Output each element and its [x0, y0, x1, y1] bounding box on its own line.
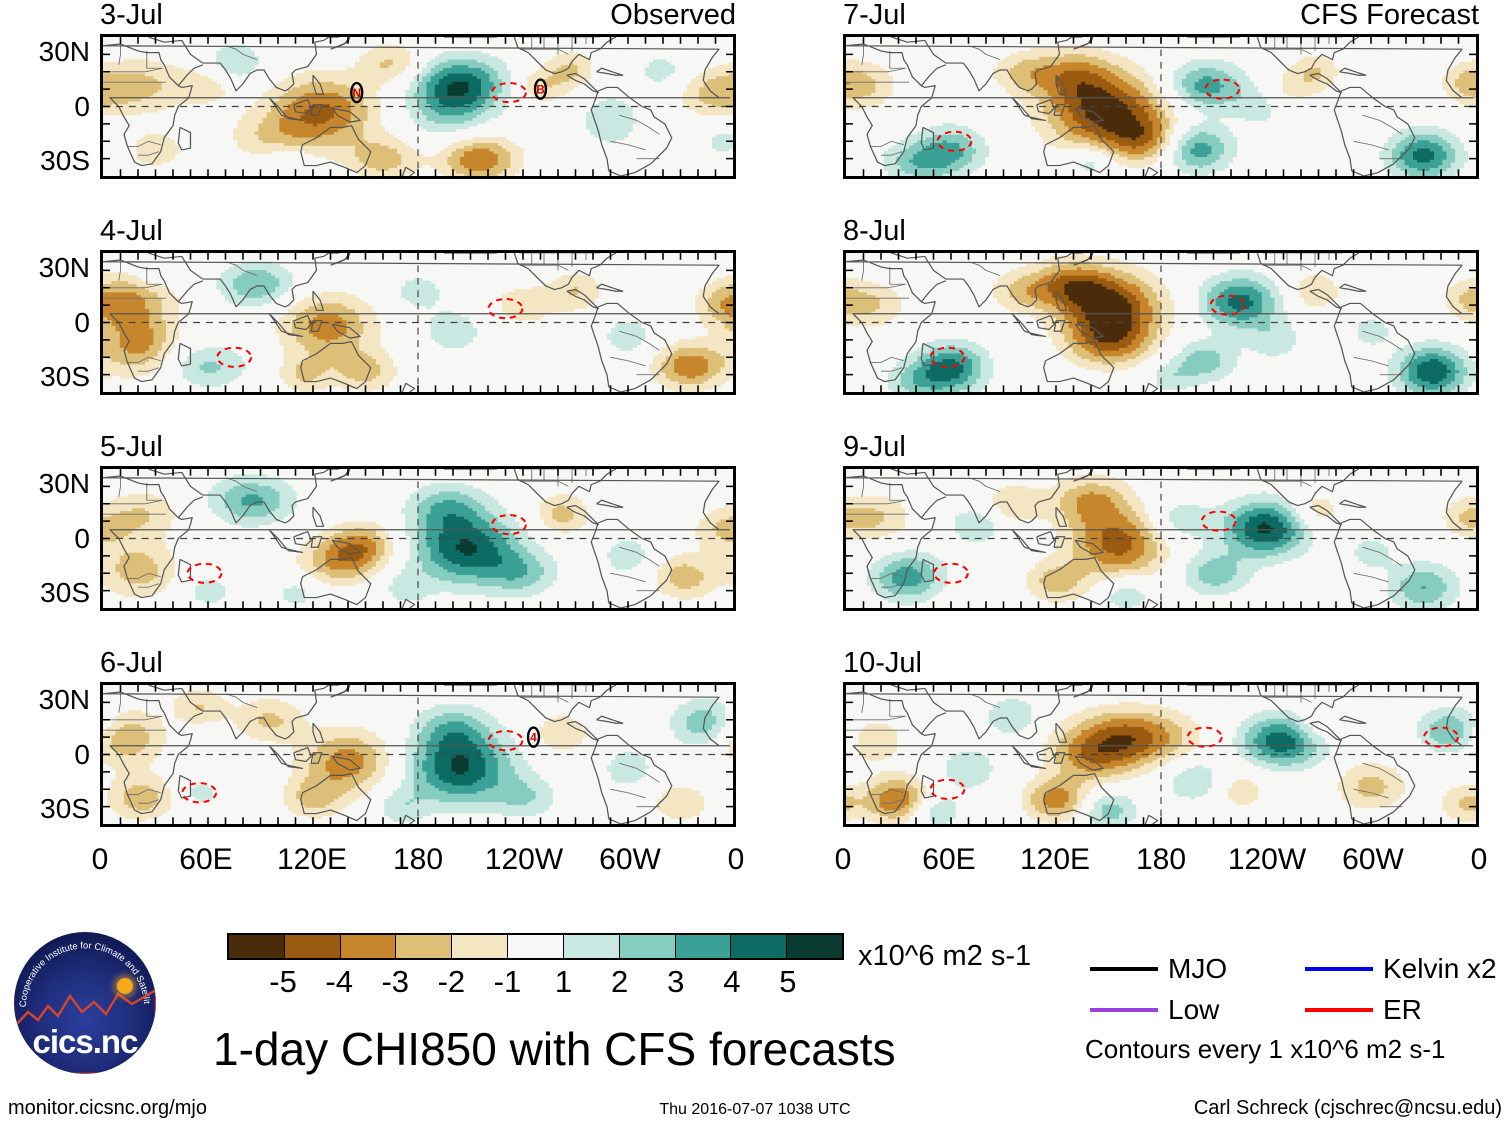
map-panel-7-jul: 7-JulCFS Forecast — [843, 34, 1479, 179]
colorbar-tick-label: 4 — [723, 966, 740, 997]
panel-date-label: 10-Jul — [843, 649, 922, 678]
colorbar-tick-label: -3 — [381, 966, 409, 997]
colorbar — [227, 933, 844, 960]
colorbar-band — [620, 935, 676, 958]
x-axis-tick-label: 0 — [728, 845, 745, 875]
legend-line-low — [1090, 1008, 1158, 1012]
cics-nc-logo: Cooperative Institute for Climate and Sa… — [14, 932, 156, 1074]
map-plot-area[interactable]: 4 — [100, 682, 736, 827]
colorbar-band — [508, 935, 564, 958]
column-header-observed: Observed — [610, 1, 736, 30]
chi850-anomaly-map — [846, 685, 1476, 824]
mjo-marker-label: 4 — [530, 732, 537, 745]
map-plot-area[interactable] — [100, 250, 736, 395]
y-axis-tick-label: 30S — [4, 363, 90, 391]
legend-line-mjo — [1090, 967, 1158, 971]
colorbar-tick-label: -5 — [269, 966, 297, 997]
grid-lines — [103, 37, 733, 176]
colorbar-tick-label: -1 — [494, 966, 522, 997]
map-panel-3-jul: 3-JulObservedNB — [100, 34, 736, 179]
footer-timestamp: Thu 2016-07-07 1038 UTC — [659, 1100, 850, 1120]
x-axis-tick-label: 180 — [1136, 845, 1186, 875]
chi850-anomaly-map: 4 — [103, 685, 733, 824]
chi850-anomaly-map — [846, 37, 1476, 176]
x-axis-tick-label: 120W — [1228, 845, 1306, 875]
chi850-anomaly-map — [103, 469, 733, 608]
legend-label-kelvin-x2: Kelvin x2 — [1383, 955, 1497, 983]
footer-url[interactable]: monitor.cicsnc.org/mjo — [8, 1098, 207, 1118]
panel-date-label: 8-Jul — [843, 217, 906, 246]
panel-date-label: 9-Jul — [843, 433, 906, 462]
legend-line-er — [1305, 1008, 1373, 1012]
y-axis-tick-label: 0 — [4, 741, 90, 769]
y-axis-tick-label: 30N — [4, 470, 90, 498]
chi850-anomaly-map — [103, 253, 733, 392]
x-axis-tick-label: 0 — [92, 845, 109, 875]
figure-title: 1-day CHI850 with CFS forecasts — [213, 1026, 896, 1072]
colorbar-tick-label: 1 — [555, 966, 572, 997]
x-axis-tick-label: 0 — [1471, 845, 1488, 875]
chi850-anomaly-map — [846, 253, 1476, 392]
mjo-marker-label: N — [352, 87, 361, 100]
colorbar-tick-label: 2 — [611, 966, 628, 997]
colorbar-band — [676, 935, 732, 958]
legend-line-kelvin-x2 — [1305, 967, 1373, 971]
map-plot-area[interactable] — [843, 250, 1479, 395]
x-axis-tick-label: 60W — [599, 845, 661, 875]
map-panel-6-jul: 6-Jul4 — [100, 682, 736, 827]
x-axis-tick-label: 0 — [835, 845, 852, 875]
map-panel-10-jul: 10-Jul — [843, 682, 1479, 827]
y-axis-tick-label: 0 — [4, 309, 90, 337]
map-plot-area[interactable] — [100, 466, 736, 611]
y-axis-tick-label: 0 — [4, 525, 90, 553]
colorbar-band — [229, 935, 285, 958]
map-plot-area[interactable] — [843, 34, 1479, 179]
x-axis-tick-label: 60W — [1342, 845, 1404, 875]
y-axis-tick-label: 30S — [4, 579, 90, 607]
y-axis-tick-label: 30S — [4, 147, 90, 175]
colorbar-band — [564, 935, 620, 958]
colorbar-band — [396, 935, 452, 958]
chi850-anomaly-map — [846, 469, 1476, 608]
x-axis-tick-label: 180 — [393, 845, 443, 875]
colorbar-units-label: x10^6 m2 s-1 — [858, 942, 1031, 971]
panel-date-label: 5-Jul — [100, 433, 163, 462]
colorbar-tick-label: -4 — [325, 966, 353, 997]
y-axis-tick-label: 30S — [4, 795, 90, 823]
y-axis-tick-label: 30N — [4, 38, 90, 66]
y-axis-tick-label: 0 — [4, 93, 90, 121]
chi850-anomaly-map: NB — [103, 37, 733, 176]
map-panel-5-jul: 5-Jul — [100, 466, 736, 611]
colorbar-band — [731, 935, 787, 958]
legend-label-mjo: MJO — [1168, 955, 1227, 983]
map-plot-area[interactable]: NB — [100, 34, 736, 179]
contour-interval-note: Contours every 1 x10^6 m2 s-1 — [1085, 1036, 1445, 1062]
map-panel-9-jul: 9-Jul — [843, 466, 1479, 611]
x-axis-tick-label: 120W — [485, 845, 563, 875]
panel-date-label: 4-Jul — [100, 217, 163, 246]
er-contour — [188, 564, 222, 583]
column-header-forecast: CFS Forecast — [1300, 1, 1479, 30]
legend-label-low: Low — [1168, 996, 1219, 1024]
x-axis-tick-label: 120E — [277, 845, 347, 875]
y-axis-tick-label: 30N — [4, 686, 90, 714]
colorbar-tick-label: 5 — [779, 966, 796, 997]
legend-label-er: ER — [1383, 996, 1422, 1024]
map-plot-area[interactable] — [843, 466, 1479, 611]
logo-wordmark: cics.nc — [14, 1025, 156, 1058]
map-plot-area[interactable] — [843, 682, 1479, 827]
colorbar-tick-label: 3 — [667, 966, 684, 997]
colorbar-band — [452, 935, 508, 958]
colorbar-band — [285, 935, 341, 958]
colorbar-band — [341, 935, 397, 958]
x-axis-tick-label: 120E — [1020, 845, 1090, 875]
colorbar-tick-label: -2 — [438, 966, 466, 997]
map-panel-8-jul: 8-Jul — [843, 250, 1479, 395]
footer-author: Carl Schreck (cjschrec@ncsu.edu) — [1194, 1098, 1502, 1118]
x-axis-tick-label: 60E — [922, 845, 975, 875]
colorbar-band — [787, 935, 842, 958]
panel-date-label: 6-Jul — [100, 649, 163, 678]
mjo-marker-label: B — [536, 84, 545, 97]
panel-date-label: 7-Jul — [843, 1, 906, 30]
x-axis-tick-label: 60E — [179, 845, 232, 875]
y-axis-tick-label: 30N — [4, 254, 90, 282]
map-panel-4-jul: 4-Jul — [100, 250, 736, 395]
panel-date-label: 3-Jul — [100, 1, 163, 30]
logo-sun-icon — [117, 978, 133, 994]
